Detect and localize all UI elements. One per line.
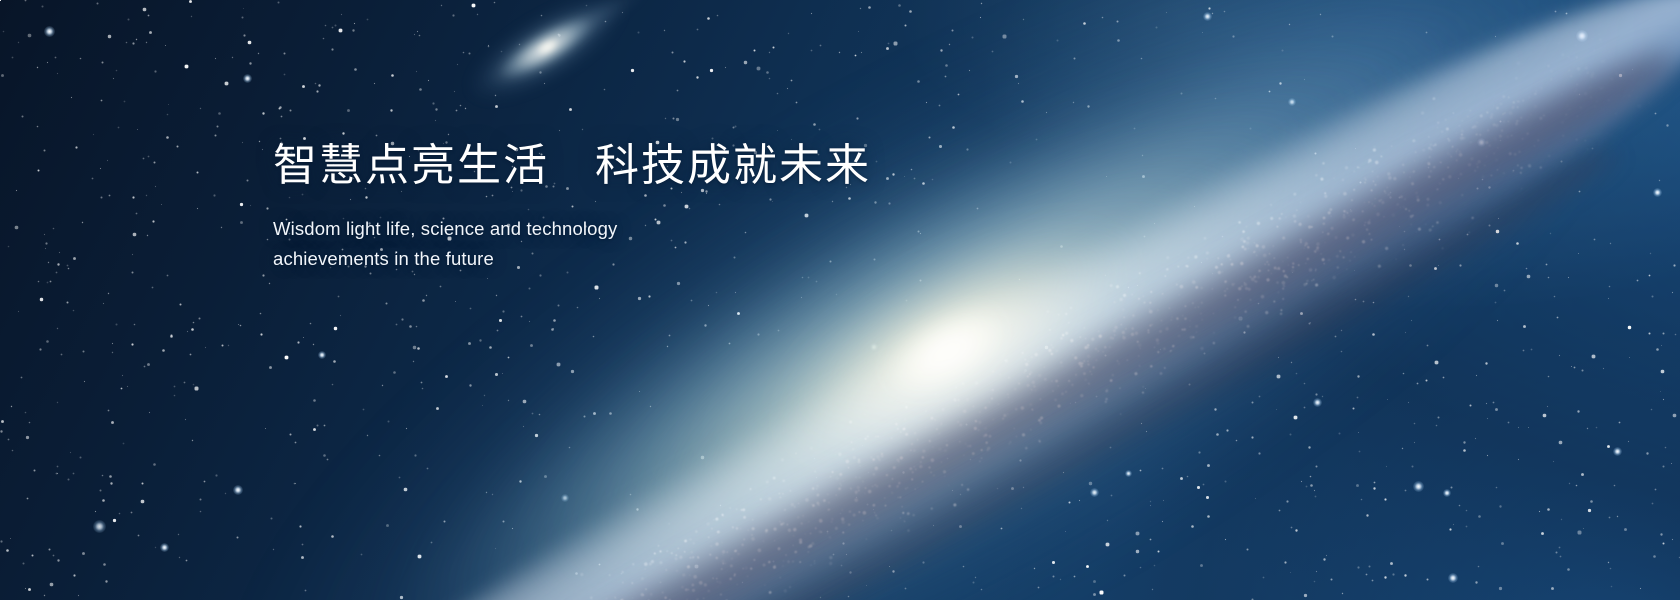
banner-subtitle: Wisdom light life, science and technolog…	[273, 194, 665, 274]
banner-headline: 智慧点亮生活 科技成就未来	[273, 138, 1033, 194]
nebula-wash	[0, 0, 1680, 600]
hero-banner: 智慧点亮生活 科技成就未来 Wisdom light life, science…	[0, 0, 1680, 600]
banner-copy: 智慧点亮生活 科技成就未来 Wisdom light life, science…	[273, 138, 1033, 274]
